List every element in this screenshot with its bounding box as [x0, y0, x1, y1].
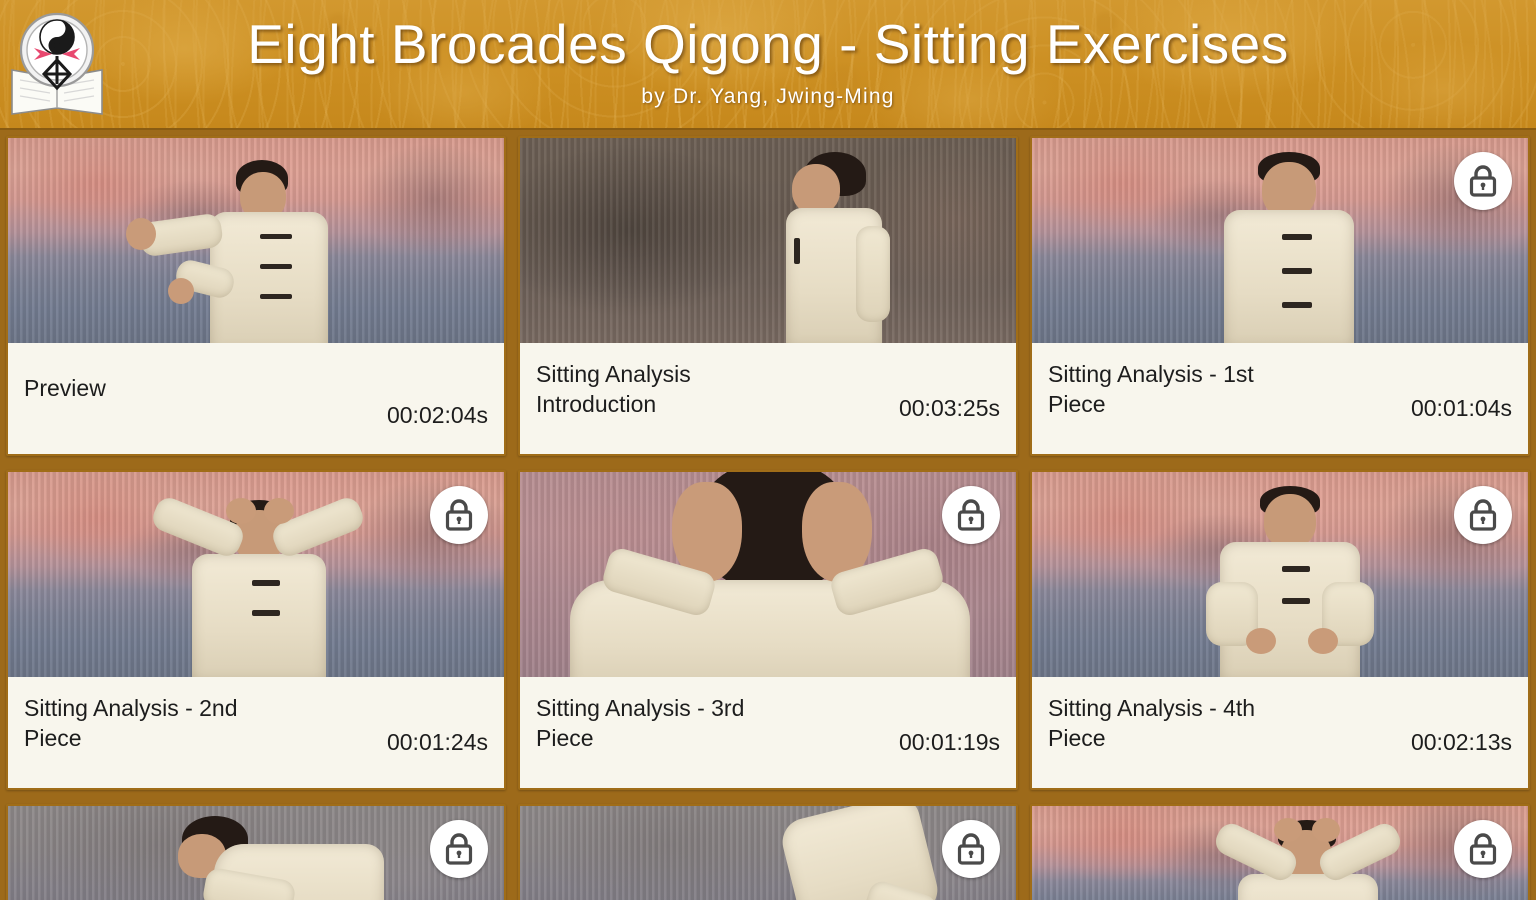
- card-meta: Preview 00:02:04s: [8, 343, 504, 454]
- thumbnail-sitting-analysis-2nd-piece[interactable]: [8, 472, 504, 677]
- card-title: Preview: [24, 359, 106, 403]
- lock-icon: [1454, 152, 1512, 210]
- figure-hands-behind-head: [138, 484, 388, 677]
- video-card-row3-item1[interactable]: [6, 804, 506, 900]
- video-card-sitting-analysis-1st-piece[interactable]: Sitting Analysis - 1st Piece 00:01:04s: [1030, 136, 1530, 456]
- card-meta: Sitting Analysis - 2nd Piece 00:01:24s: [8, 677, 504, 788]
- video-card-sitting-analysis-2nd-piece[interactable]: Sitting Analysis - 2nd Piece 00:01:24s: [6, 470, 506, 790]
- lock-icon: [942, 486, 1000, 544]
- card-duration: 00:02:04s: [387, 400, 488, 430]
- lock-icon: [1454, 486, 1512, 544]
- card-meta: Sitting Analysis - 1st Piece 00:01:04s: [1032, 343, 1528, 454]
- card-meta: Sitting Analysis Introduction 00:03:25s: [520, 343, 1016, 454]
- lock-icon: [430, 486, 488, 544]
- figure-seated-hands-at-waist: [1202, 486, 1392, 677]
- lock-icon: [430, 820, 488, 878]
- video-card-row3-item2[interactable]: [518, 804, 1018, 900]
- card-duration: 00:03:25s: [899, 393, 1000, 423]
- figure-profile-standing: [770, 152, 950, 343]
- card-meta: Sitting Analysis - 3rd Piece 00:01:19s: [520, 677, 1016, 788]
- video-card-sitting-analysis-introduction[interactable]: Sitting Analysis Introduction 00:03:25s: [518, 136, 1018, 456]
- card-title: Sitting Analysis - 3rd Piece: [536, 693, 744, 753]
- figure-bending-forward: [158, 814, 418, 900]
- figure-hands-on-head: [1212, 812, 1412, 900]
- thumbnail-sitting-analysis-3rd-piece[interactable]: [520, 472, 1016, 677]
- card-duration: 00:01:04s: [1411, 393, 1512, 423]
- card-meta: Sitting Analysis - 4th Piece 00:02:13s: [1032, 677, 1528, 788]
- lock-icon: [942, 820, 1000, 878]
- thumbnail-row3-item1[interactable]: [8, 806, 504, 900]
- thumbnail-row3-item3[interactable]: [1032, 806, 1528, 900]
- card-duration: 00:01:24s: [387, 727, 488, 757]
- card-duration: 00:02:13s: [1411, 727, 1512, 757]
- video-card-sitting-analysis-3rd-piece[interactable]: Sitting Analysis - 3rd Piece 00:01:19s: [518, 470, 1018, 790]
- figure-leg-stretch: [640, 810, 940, 900]
- thumbnail-sitting-analysis-1st-piece[interactable]: [1032, 138, 1528, 343]
- thumbnail-preview[interactable]: [8, 138, 504, 343]
- video-card-sitting-analysis-4th-piece[interactable]: Sitting Analysis - 4th Piece 00:02:13s: [1030, 470, 1530, 790]
- app-subtitle: by Dr. Yang, Jwing-Ming: [0, 84, 1536, 110]
- card-title: Sitting Analysis - 1st Piece: [1048, 359, 1254, 419]
- lock-icon: [1454, 820, 1512, 878]
- thumbnail-sitting-analysis-4th-piece[interactable]: [1032, 472, 1528, 677]
- thumbnail-row3-item2[interactable]: [520, 806, 1016, 900]
- thumbnail-sitting-analysis-introduction[interactable]: [520, 138, 1016, 343]
- video-grid: Preview 00:02:04s Sitting Analysis Intro…: [0, 130, 1536, 900]
- figure-arm-extended: [148, 160, 388, 343]
- video-card-preview[interactable]: Preview 00:02:04s: [6, 136, 506, 456]
- app-title: Eight Brocades Qigong - Sitting Exercise…: [0, 4, 1536, 84]
- card-title: Sitting Analysis - 2nd Piece: [24, 693, 238, 753]
- card-title: Sitting Analysis - 4th Piece: [1048, 693, 1255, 753]
- app-header: Eight Brocades Qigong - Sitting Exercise…: [0, 0, 1536, 130]
- header-text-block: Eight Brocades Qigong - Sitting Exercise…: [0, 0, 1536, 110]
- figure-hands-covering-head-closeup: [580, 472, 960, 677]
- video-card-row3-item3[interactable]: [1030, 804, 1530, 900]
- card-duration: 00:01:19s: [899, 727, 1000, 757]
- card-title: Sitting Analysis Introduction: [536, 359, 691, 419]
- figure-front-standing: [1202, 152, 1382, 343]
